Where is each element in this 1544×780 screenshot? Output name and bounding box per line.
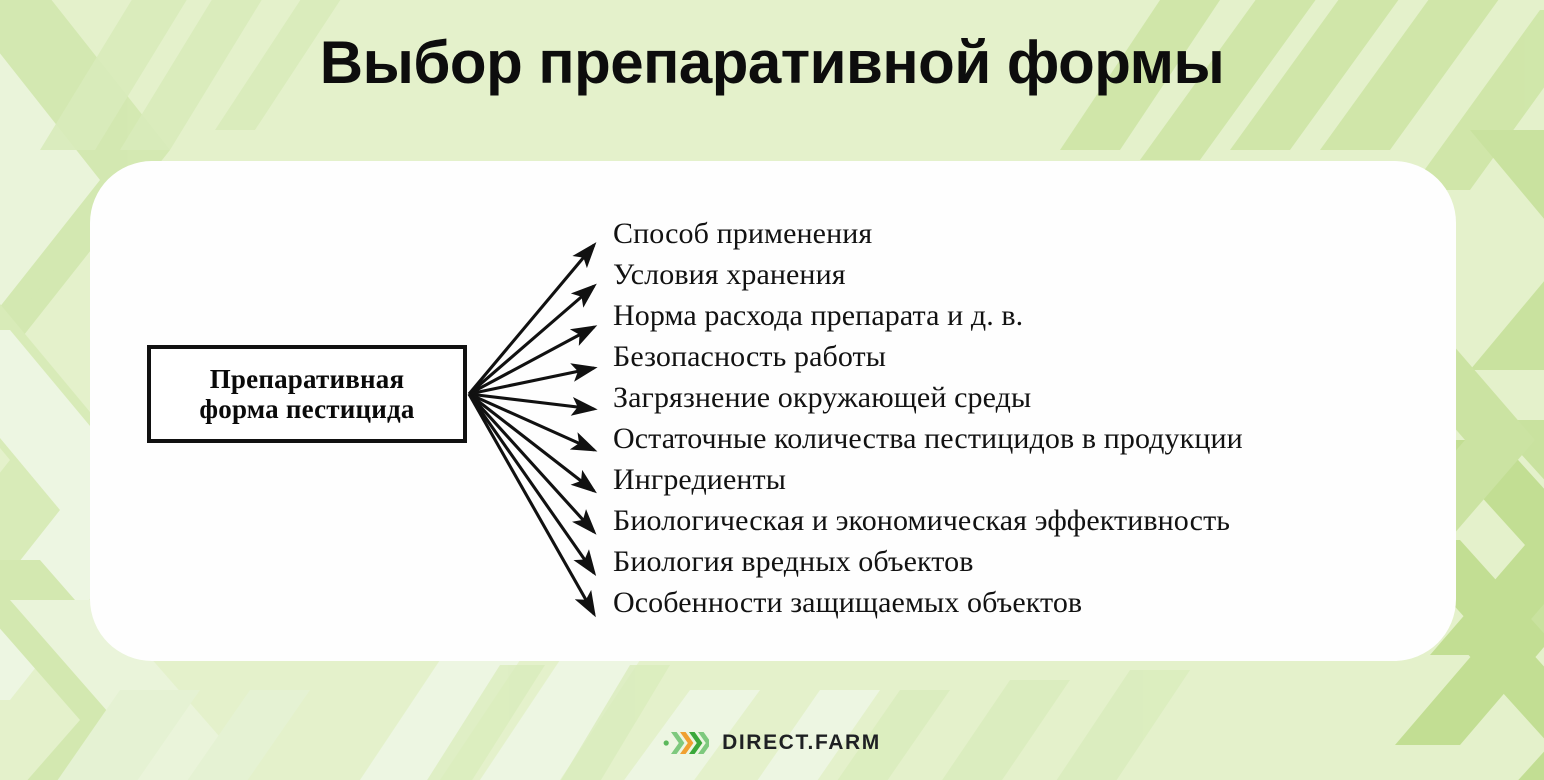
list-item: Особенности защищаемых объектов [613,582,1433,623]
content-card: Препаративная форма пестицида [90,161,1456,661]
list-item: Биология вредных объектов [613,541,1433,582]
brand-wordmark: DIRECT.FARM [722,731,881,755]
footer-brand: DIRECT.FARM [0,720,1544,766]
list-item: Остаточные количества пестицидов в проду… [613,418,1433,459]
list-item: Способ применения [613,213,1433,254]
list-item: Условия хранения [613,254,1433,295]
fan-diagram: Препаративная форма пестицида [90,161,1456,661]
page-title: Выбор препаративной формы [0,28,1544,97]
list-item: Загрязнение окружающей среды [613,377,1433,418]
chevrons-logo-icon [663,730,709,756]
list-item: Безопасность работы [613,336,1433,377]
list-item: Норма расхода препарата и д. в. [613,295,1433,336]
slide-canvas: Выбор препаративной формы Препаративная … [0,0,1544,780]
list-item: Биологическая и экономическая эффективно… [613,500,1433,541]
factor-list: Способ применения Условия хранения Норма… [613,213,1433,623]
list-item: Ингредиенты [613,459,1433,500]
